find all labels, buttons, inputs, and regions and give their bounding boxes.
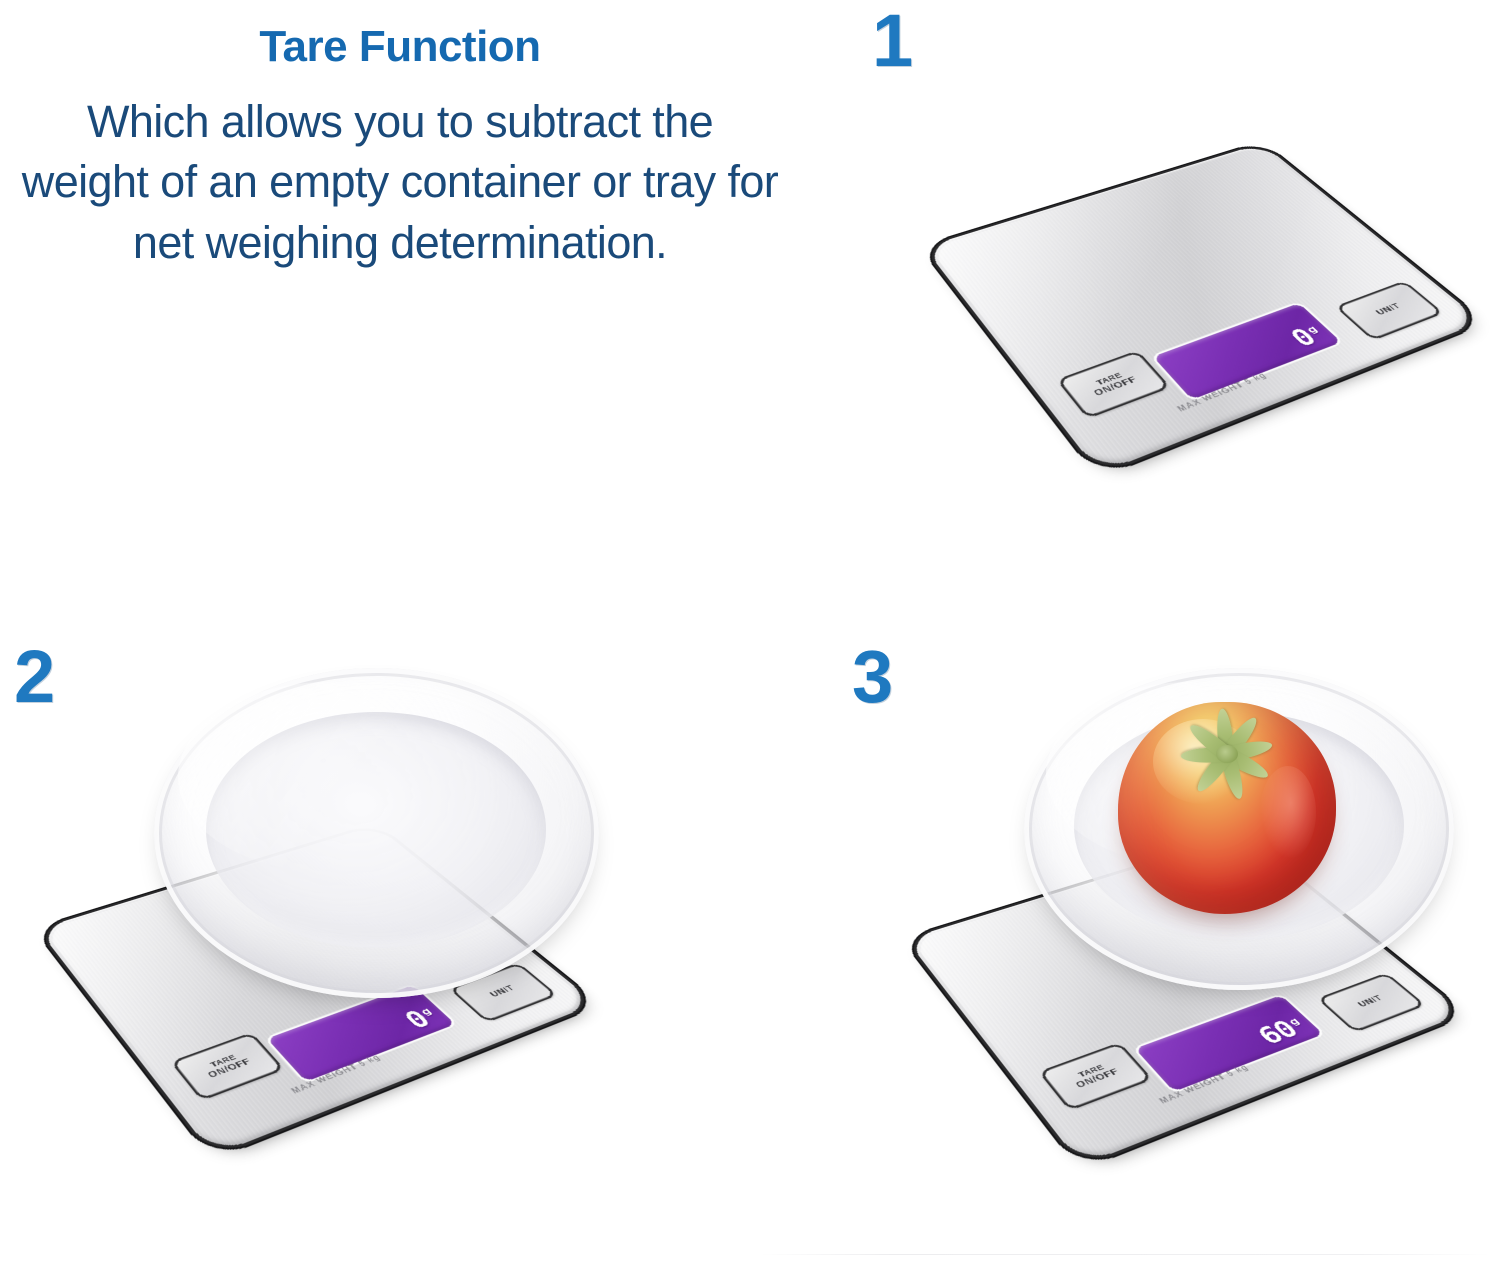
unit-button-label-2: UNIT: [488, 984, 517, 999]
step-number-3: 3: [852, 640, 893, 714]
page-title: Tare Function: [0, 22, 800, 72]
bowl-inner-surface-2: [206, 712, 546, 948]
lcd-reading-3: 60 g: [1254, 1016, 1312, 1049]
unit-button-label-3: UNIT: [1356, 994, 1385, 1009]
step-2-illustration: TARE ON/OFF 0 g UNIT MAX WEIGHT 5 kg: [40, 660, 660, 1180]
tare-power-button-label-3: TARE ON/OFF: [1069, 1061, 1122, 1090]
kitchen-scale-1: TARE ON/OFF 0 g UNIT MAX WEIGHT 5 kg: [924, 143, 1482, 473]
unit-button-label-1: UNIT: [1374, 302, 1403, 317]
lcd-reading-1: 0 g: [1287, 324, 1330, 351]
tare-power-button-label-1: TARE ON/OFF: [1087, 369, 1140, 398]
clear-plastic-bowl-2: [154, 668, 599, 998]
step-1-illustration: TARE ON/OFF 0 g UNIT MAX WEIGHT 5 kg: [930, 60, 1500, 530]
footer-divider: [760, 1254, 1490, 1255]
tare-description-text: Which allows you to subtract the weight …: [20, 92, 780, 273]
tomato: [1118, 702, 1336, 914]
tare-power-button-label-2: TARE ON/OFF: [201, 1051, 254, 1080]
tare-function-text-panel: Tare Function Which allows you to subtra…: [0, 0, 800, 420]
step-3-illustration: TARE ON/OFF 60 g UNIT MAX WEIGHT 5 kg: [920, 660, 1500, 1180]
tomato-calyx-leaves: [1173, 715, 1281, 793]
lcd-reading-2: 0 g: [401, 1006, 444, 1033]
step-number-1: 1: [872, 4, 913, 78]
calyx-center: [1216, 745, 1238, 763]
